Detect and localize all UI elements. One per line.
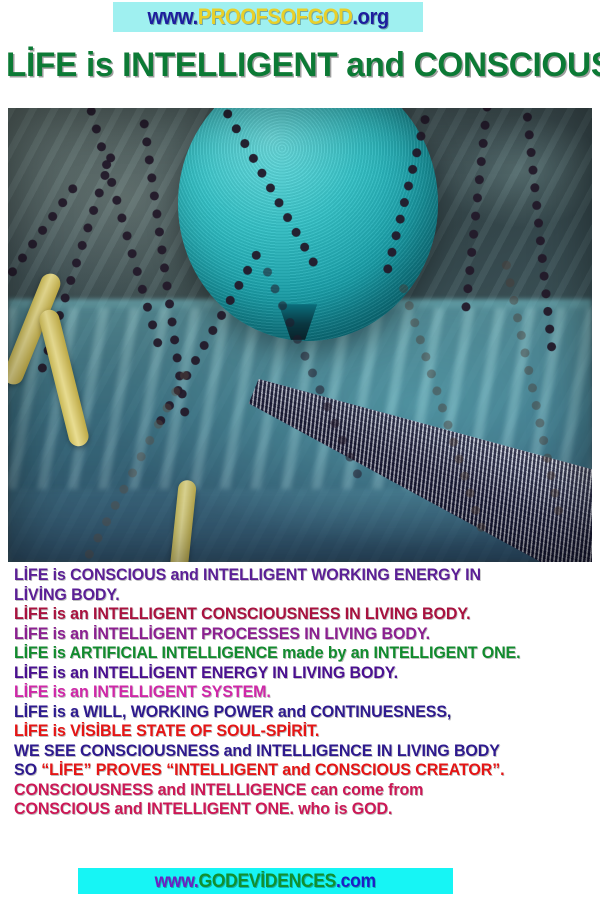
bottom-banner-prefix: www. <box>155 871 199 892</box>
statement-line: LİFE is VİSİBLE STATE OF SOUL-SPİRİT. <box>14 722 575 742</box>
statement-line: LİFE is an INTELLİGENT ENERGY IN LIVING … <box>14 664 575 684</box>
statement-line: WE SEE CONSCIOUSNESS and INTELLIGENCE IN… <box>14 742 575 762</box>
bottom-banner-text: www.GODEVİDENCES.com <box>155 872 376 891</box>
statement-line: CONSCIOUSNESS and INTELLIGENCE can come … <box>14 781 575 801</box>
page-title: LİFE is INTELLIGENT and CONSCIOUS ENERGY <box>6 48 594 82</box>
statement-line: LİFE is an INTELLIGENT SYSTEM. <box>14 683 575 703</box>
statement-line: LİFE is a WILL, WORKING POWER and CONTIN… <box>14 703 575 723</box>
statement-list: LİFE is CONSCIOUS and INTELLIGENT WORKIN… <box>14 566 592 820</box>
top-banner-brand: PROOFSOFGOD <box>198 4 353 29</box>
statement-line: LİFE is an INTELLIGENT CONSCIOUSNESS IN … <box>14 605 575 625</box>
statement-line: CONSCIOUS and INTELLIGENT ONE. who is GO… <box>14 800 575 820</box>
top-banner-text: www.PROOFSOFGOD.org <box>147 6 388 28</box>
top-banner-suffix: .org <box>352 4 388 29</box>
statement-line-mixed: SO “LİFE” PROVES “INTELLIGENT and CONSCI… <box>14 761 575 781</box>
statement-line: LİVİNG BODY. <box>14 586 575 606</box>
bottom-banner-suffix: .com <box>336 871 376 892</box>
statement-line: LİFE is CONSCIOUS and INTELLIGENT WORKIN… <box>14 566 575 586</box>
statement-segment-so: SO <box>14 761 41 779</box>
bottom-website-banner[interactable]: www.GODEVİDENCES.com <box>78 868 453 894</box>
top-website-banner[interactable]: www.PROOFSOFGOD.org <box>113 2 423 32</box>
bottom-banner-brand: GODEVİDENCES <box>199 871 337 892</box>
statement-segment-proves: “LİFE” PROVES “INTELLIGENT and CONSCIOUS… <box>41 761 504 779</box>
statement-line: LİFE is an İNTELLİGENT PROCESSES IN LIVI… <box>14 625 575 645</box>
statement-line: LİFE is ARTIFICIAL INTELLIGENCE made by … <box>14 644 575 664</box>
poster-root: www.PROOFSOFGOD.org LİFE is INTELLIGENT … <box>0 0 600 900</box>
top-banner-prefix: www. <box>147 4 197 29</box>
cell-microscopy-illustration <box>8 108 592 562</box>
